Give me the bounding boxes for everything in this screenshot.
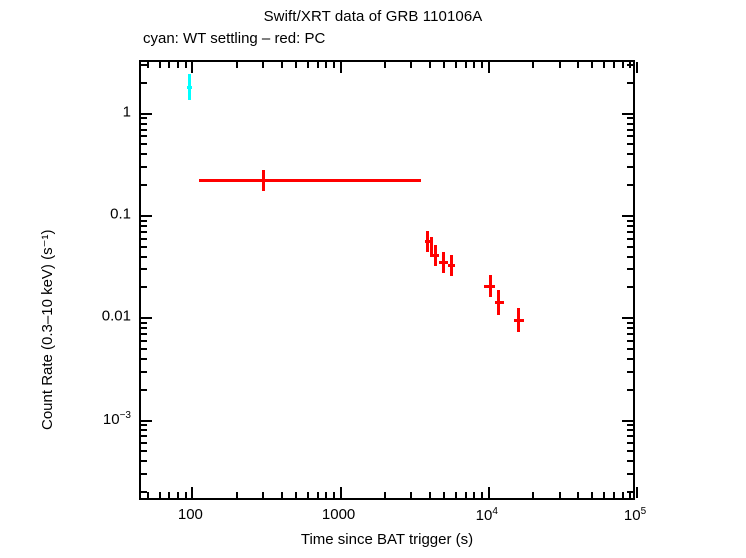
x-axis-tick <box>295 62 297 68</box>
y-axis-tick <box>622 215 633 217</box>
y-tick-label: 1 <box>123 103 131 120</box>
y-axis-tick <box>627 184 633 186</box>
y-axis-tick <box>141 435 147 437</box>
y-tick-label: 0.1 <box>110 205 131 222</box>
y-error-bar <box>497 290 500 315</box>
y-axis-tick <box>622 317 633 319</box>
y-error-bar <box>434 245 437 266</box>
y-error-bar <box>489 275 492 297</box>
y-axis-title: Count Rate (0.3–10 keV) (s⁻¹) <box>38 229 56 430</box>
x-axis-tick <box>465 62 467 68</box>
x-axis-tick <box>591 492 593 498</box>
y-axis-tick <box>141 231 147 233</box>
y-axis-tick <box>627 435 633 437</box>
x-axis-tick <box>465 492 467 498</box>
y-axis-tick <box>627 246 633 248</box>
y-axis-tick <box>141 238 147 240</box>
y-axis-tick <box>627 389 633 391</box>
y-axis-tick <box>627 429 633 431</box>
y-axis-tick <box>627 348 633 350</box>
x-axis-tick <box>295 492 297 498</box>
x-axis-tick <box>384 62 386 68</box>
y-axis-tick <box>627 256 633 258</box>
y-axis-tick <box>141 135 147 137</box>
y-axis-tick <box>141 491 147 493</box>
x-axis-tick <box>262 62 264 68</box>
x-axis-tick <box>333 62 335 68</box>
x-axis-tick <box>410 62 412 68</box>
x-error-bar <box>199 179 422 182</box>
y-axis-tick <box>141 117 147 119</box>
x-axis-tick <box>622 62 624 68</box>
y-axis-tick <box>627 135 633 137</box>
x-axis-tick <box>559 492 561 498</box>
x-axis-tick <box>307 62 309 68</box>
x-axis-tick <box>191 487 193 498</box>
y-axis-tick <box>141 473 147 475</box>
y-axis-tick <box>627 64 633 66</box>
x-axis-tick <box>384 492 386 498</box>
x-axis-tick <box>603 62 605 68</box>
x-axis-tick <box>532 492 534 498</box>
y-axis-tick <box>141 424 147 426</box>
y-axis-tick <box>627 129 633 131</box>
y-axis-tick <box>627 333 633 335</box>
y-axis-tick <box>141 420 152 422</box>
y-axis-tick <box>627 460 633 462</box>
x-axis-tick <box>577 62 579 68</box>
y-axis-tick <box>141 327 147 329</box>
y-axis-tick <box>627 340 633 342</box>
chart-subtitle: cyan: WT settling – red: PC <box>143 30 325 47</box>
y-axis-tick <box>141 220 147 222</box>
x-axis-tick <box>488 487 490 498</box>
y-axis-tick <box>141 256 147 258</box>
x-axis-tick <box>147 62 149 68</box>
y-axis-tick-labels: 10.10.0110−3 <box>60 0 131 558</box>
y-axis-tick <box>622 420 633 422</box>
x-axis-tick <box>443 492 445 498</box>
x-axis-tick <box>262 492 264 498</box>
x-axis-tick <box>281 62 283 68</box>
y-axis-tick <box>141 82 147 84</box>
x-axis-tick <box>236 62 238 68</box>
y-axis-tick <box>141 333 147 335</box>
x-axis-tick <box>159 492 161 498</box>
x-axis-tick <box>532 62 534 68</box>
y-axis-tick <box>627 442 633 444</box>
plot-canvas: Swift/XRT data of GRB 110106A cyan: WT s… <box>0 0 746 558</box>
y-axis-tick <box>141 225 147 227</box>
y-axis-tick <box>627 123 633 125</box>
x-axis-tick <box>559 62 561 68</box>
x-axis-tick <box>340 487 342 498</box>
x-axis-tick <box>325 492 327 498</box>
data-layer <box>141 62 633 498</box>
x-axis-tick <box>636 487 638 498</box>
y-axis-tick <box>627 117 633 119</box>
x-axis-tick <box>333 492 335 498</box>
x-axis-tick <box>325 62 327 68</box>
x-axis-tick <box>185 492 187 498</box>
x-axis-tick <box>185 62 187 68</box>
y-axis-tick <box>141 389 147 391</box>
x-axis-title: Time since BAT trigger (s) <box>139 531 635 548</box>
y-axis-tick <box>627 450 633 452</box>
x-axis-tick <box>317 492 319 498</box>
y-error-bar <box>262 170 265 191</box>
x-tick-label: 1000 <box>322 506 355 523</box>
x-axis-tick <box>159 62 161 68</box>
y-axis-tick <box>141 317 152 319</box>
x-axis-tick <box>577 492 579 498</box>
y-axis-tick <box>627 424 633 426</box>
x-axis-tick <box>168 492 170 498</box>
x-axis-tick <box>410 492 412 498</box>
x-axis-tick <box>488 62 490 73</box>
y-axis-tick <box>627 473 633 475</box>
y-axis-tick <box>141 460 147 462</box>
y-axis-tick <box>627 327 633 329</box>
x-axis-tick <box>191 62 193 73</box>
y-axis-tick <box>141 340 147 342</box>
y-axis-tick <box>627 143 633 145</box>
y-axis-tick <box>627 268 633 270</box>
y-axis-tick <box>141 166 147 168</box>
y-axis-tick <box>622 113 633 115</box>
y-axis-tick <box>627 358 633 360</box>
x-axis-tick <box>473 62 475 68</box>
y-axis-tick <box>141 153 147 155</box>
x-axis-tick <box>147 492 149 498</box>
y-axis-tick <box>141 123 147 125</box>
y-axis-tick <box>627 82 633 84</box>
x-axis-tick <box>473 492 475 498</box>
y-axis-tick <box>627 491 633 493</box>
x-axis-tick <box>455 492 457 498</box>
y-axis-tick <box>141 322 147 324</box>
y-axis-tick <box>627 153 633 155</box>
x-axis-tick <box>481 62 483 68</box>
y-axis-tick <box>627 231 633 233</box>
y-axis-tick <box>141 184 147 186</box>
x-axis-tick <box>177 492 179 498</box>
y-axis-tick <box>627 166 633 168</box>
x-axis-tick <box>455 62 457 68</box>
x-axis-tick <box>429 62 431 68</box>
y-axis-tick <box>141 215 152 217</box>
x-axis-tick <box>168 62 170 68</box>
y-error-bar <box>188 74 191 100</box>
y-axis-tick <box>141 358 147 360</box>
x-axis-tick <box>281 492 283 498</box>
x-axis-tick <box>622 492 624 498</box>
x-axis-tick <box>591 62 593 68</box>
x-axis-tick <box>443 62 445 68</box>
x-tick-label: 100 <box>178 506 203 523</box>
y-axis-tick <box>141 113 152 115</box>
x-axis-tick <box>636 62 638 73</box>
y-axis-tick <box>141 429 147 431</box>
x-axis-tick <box>317 62 319 68</box>
y-tick-label: 0.01 <box>102 308 131 325</box>
y-error-bar <box>450 255 453 276</box>
y-tick-label: 10−3 <box>103 410 131 428</box>
y-axis-tick <box>141 268 147 270</box>
x-tick-label: 104 <box>476 506 498 524</box>
y-axis-tick <box>141 371 147 373</box>
y-axis-tick <box>141 143 147 145</box>
y-axis-tick <box>141 64 147 66</box>
x-axis-tick <box>613 62 615 68</box>
y-axis-tick <box>141 348 147 350</box>
x-axis-tick <box>613 492 615 498</box>
y-axis-tick <box>141 442 147 444</box>
x-axis-tick <box>340 62 342 73</box>
y-axis-tick <box>141 246 147 248</box>
y-axis-tick <box>627 225 633 227</box>
y-error-bar <box>517 308 520 332</box>
x-axis-tick <box>307 492 309 498</box>
y-axis-tick <box>627 220 633 222</box>
x-axis-tick <box>603 492 605 498</box>
x-axis-tick <box>177 62 179 68</box>
x-axis-tick <box>236 492 238 498</box>
y-axis-tick <box>627 238 633 240</box>
plot-frame <box>139 60 635 500</box>
x-axis-tick <box>429 492 431 498</box>
x-axis-tick <box>481 492 483 498</box>
x-tick-label: 105 <box>624 506 646 524</box>
y-error-bar <box>442 252 445 273</box>
y-axis-tick <box>627 322 633 324</box>
y-axis-tick <box>141 129 147 131</box>
y-axis-tick <box>141 286 147 288</box>
y-axis-tick <box>627 286 633 288</box>
y-axis-tick <box>141 450 147 452</box>
y-axis-tick <box>627 371 633 373</box>
